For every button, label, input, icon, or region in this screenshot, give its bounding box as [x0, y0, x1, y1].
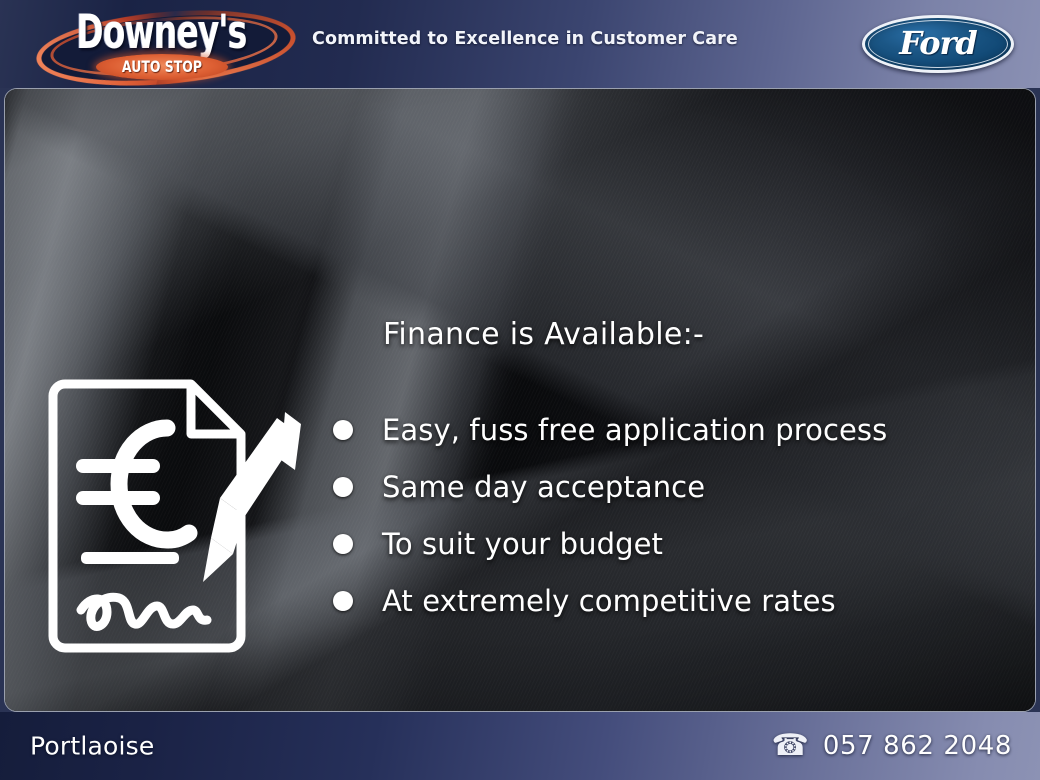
list-item-label: To suit your budget [382, 527, 663, 561]
page-footer: Portlaoise ☎ 057 862 2048 [0, 712, 1040, 780]
finance-document-signature-icon [41, 372, 313, 660]
list-item: At extremely competitive rates [330, 572, 1020, 629]
contact-block[interactable]: ☎ 057 862 2048 [771, 731, 1012, 761]
list-item-label: At extremely competitive rates [382, 584, 836, 618]
list-item: Same day acceptance [330, 458, 1020, 515]
dealer-logo-name: Downey's [60, 4, 264, 60]
ford-logo[interactable]: Ford [862, 15, 1014, 73]
dealer-logo-subtitle: AUTO STOP [111, 54, 214, 80]
bullet-dot-icon [333, 477, 353, 497]
list-item-label: Same day acceptance [382, 470, 705, 504]
bullet-dot-icon [333, 534, 353, 554]
list-item-label: Easy, fuss free application process [382, 413, 887, 447]
bullet-dot-icon [333, 420, 353, 440]
bullet-dot-icon [333, 591, 353, 611]
main-panel: Finance is Available:- Easy, fuss free a… [4, 88, 1036, 712]
page-title: Finance is Available:- [383, 317, 704, 352]
phone-icon: ☎ [771, 731, 808, 761]
phone-number[interactable]: 057 862 2048 [823, 731, 1012, 761]
page-header: Downey's AUTO STOP Committed to Excellen… [0, 0, 1040, 88]
list-item: Easy, fuss free application process [330, 401, 1020, 458]
list-item: To suit your budget [330, 515, 1020, 572]
benefits-list: Easy, fuss free application process Same… [330, 401, 1020, 629]
location-label: Portlaoise [30, 732, 154, 761]
ford-logo-text: Ford [862, 15, 1014, 73]
header-tagline: Committed to Excellence in Customer Care [312, 29, 738, 49]
dealer-logo[interactable]: Downey's AUTO STOP [34, 4, 289, 84]
